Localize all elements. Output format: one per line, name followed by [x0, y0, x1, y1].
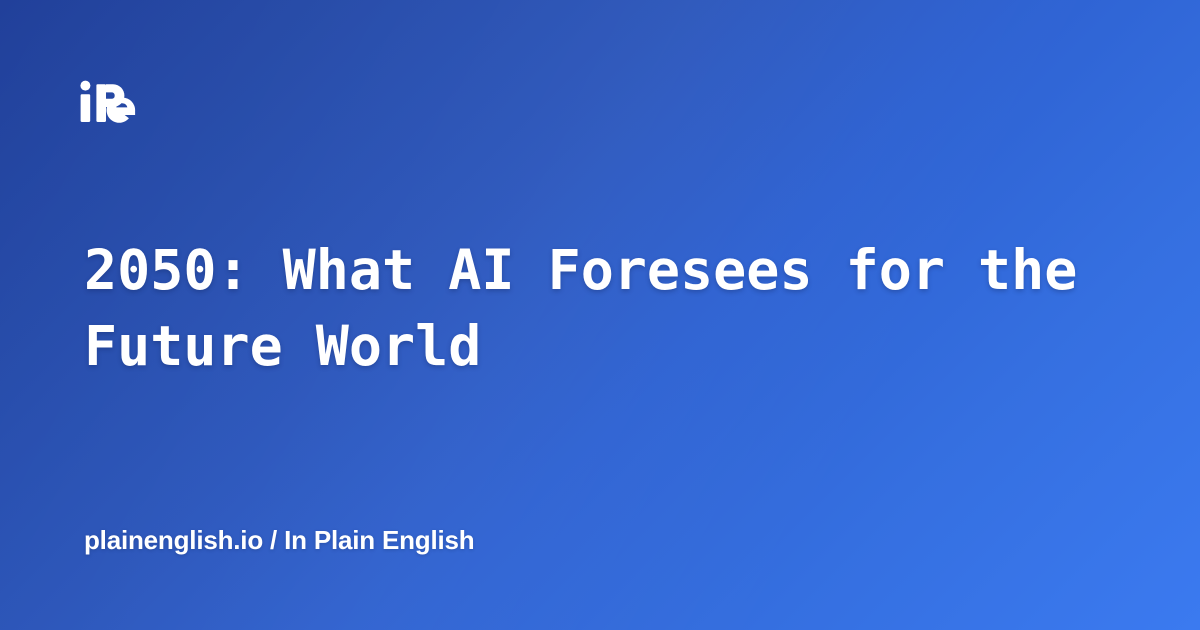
social-share-card: 2050: What AI Foresees for the Future Wo… [0, 0, 1200, 630]
ipe-logo-icon [79, 80, 137, 126]
page-title: 2050: What AI Foresees for the Future Wo… [84, 232, 1144, 384]
footer-attribution: plainenglish.io / In Plain English [84, 524, 474, 556]
